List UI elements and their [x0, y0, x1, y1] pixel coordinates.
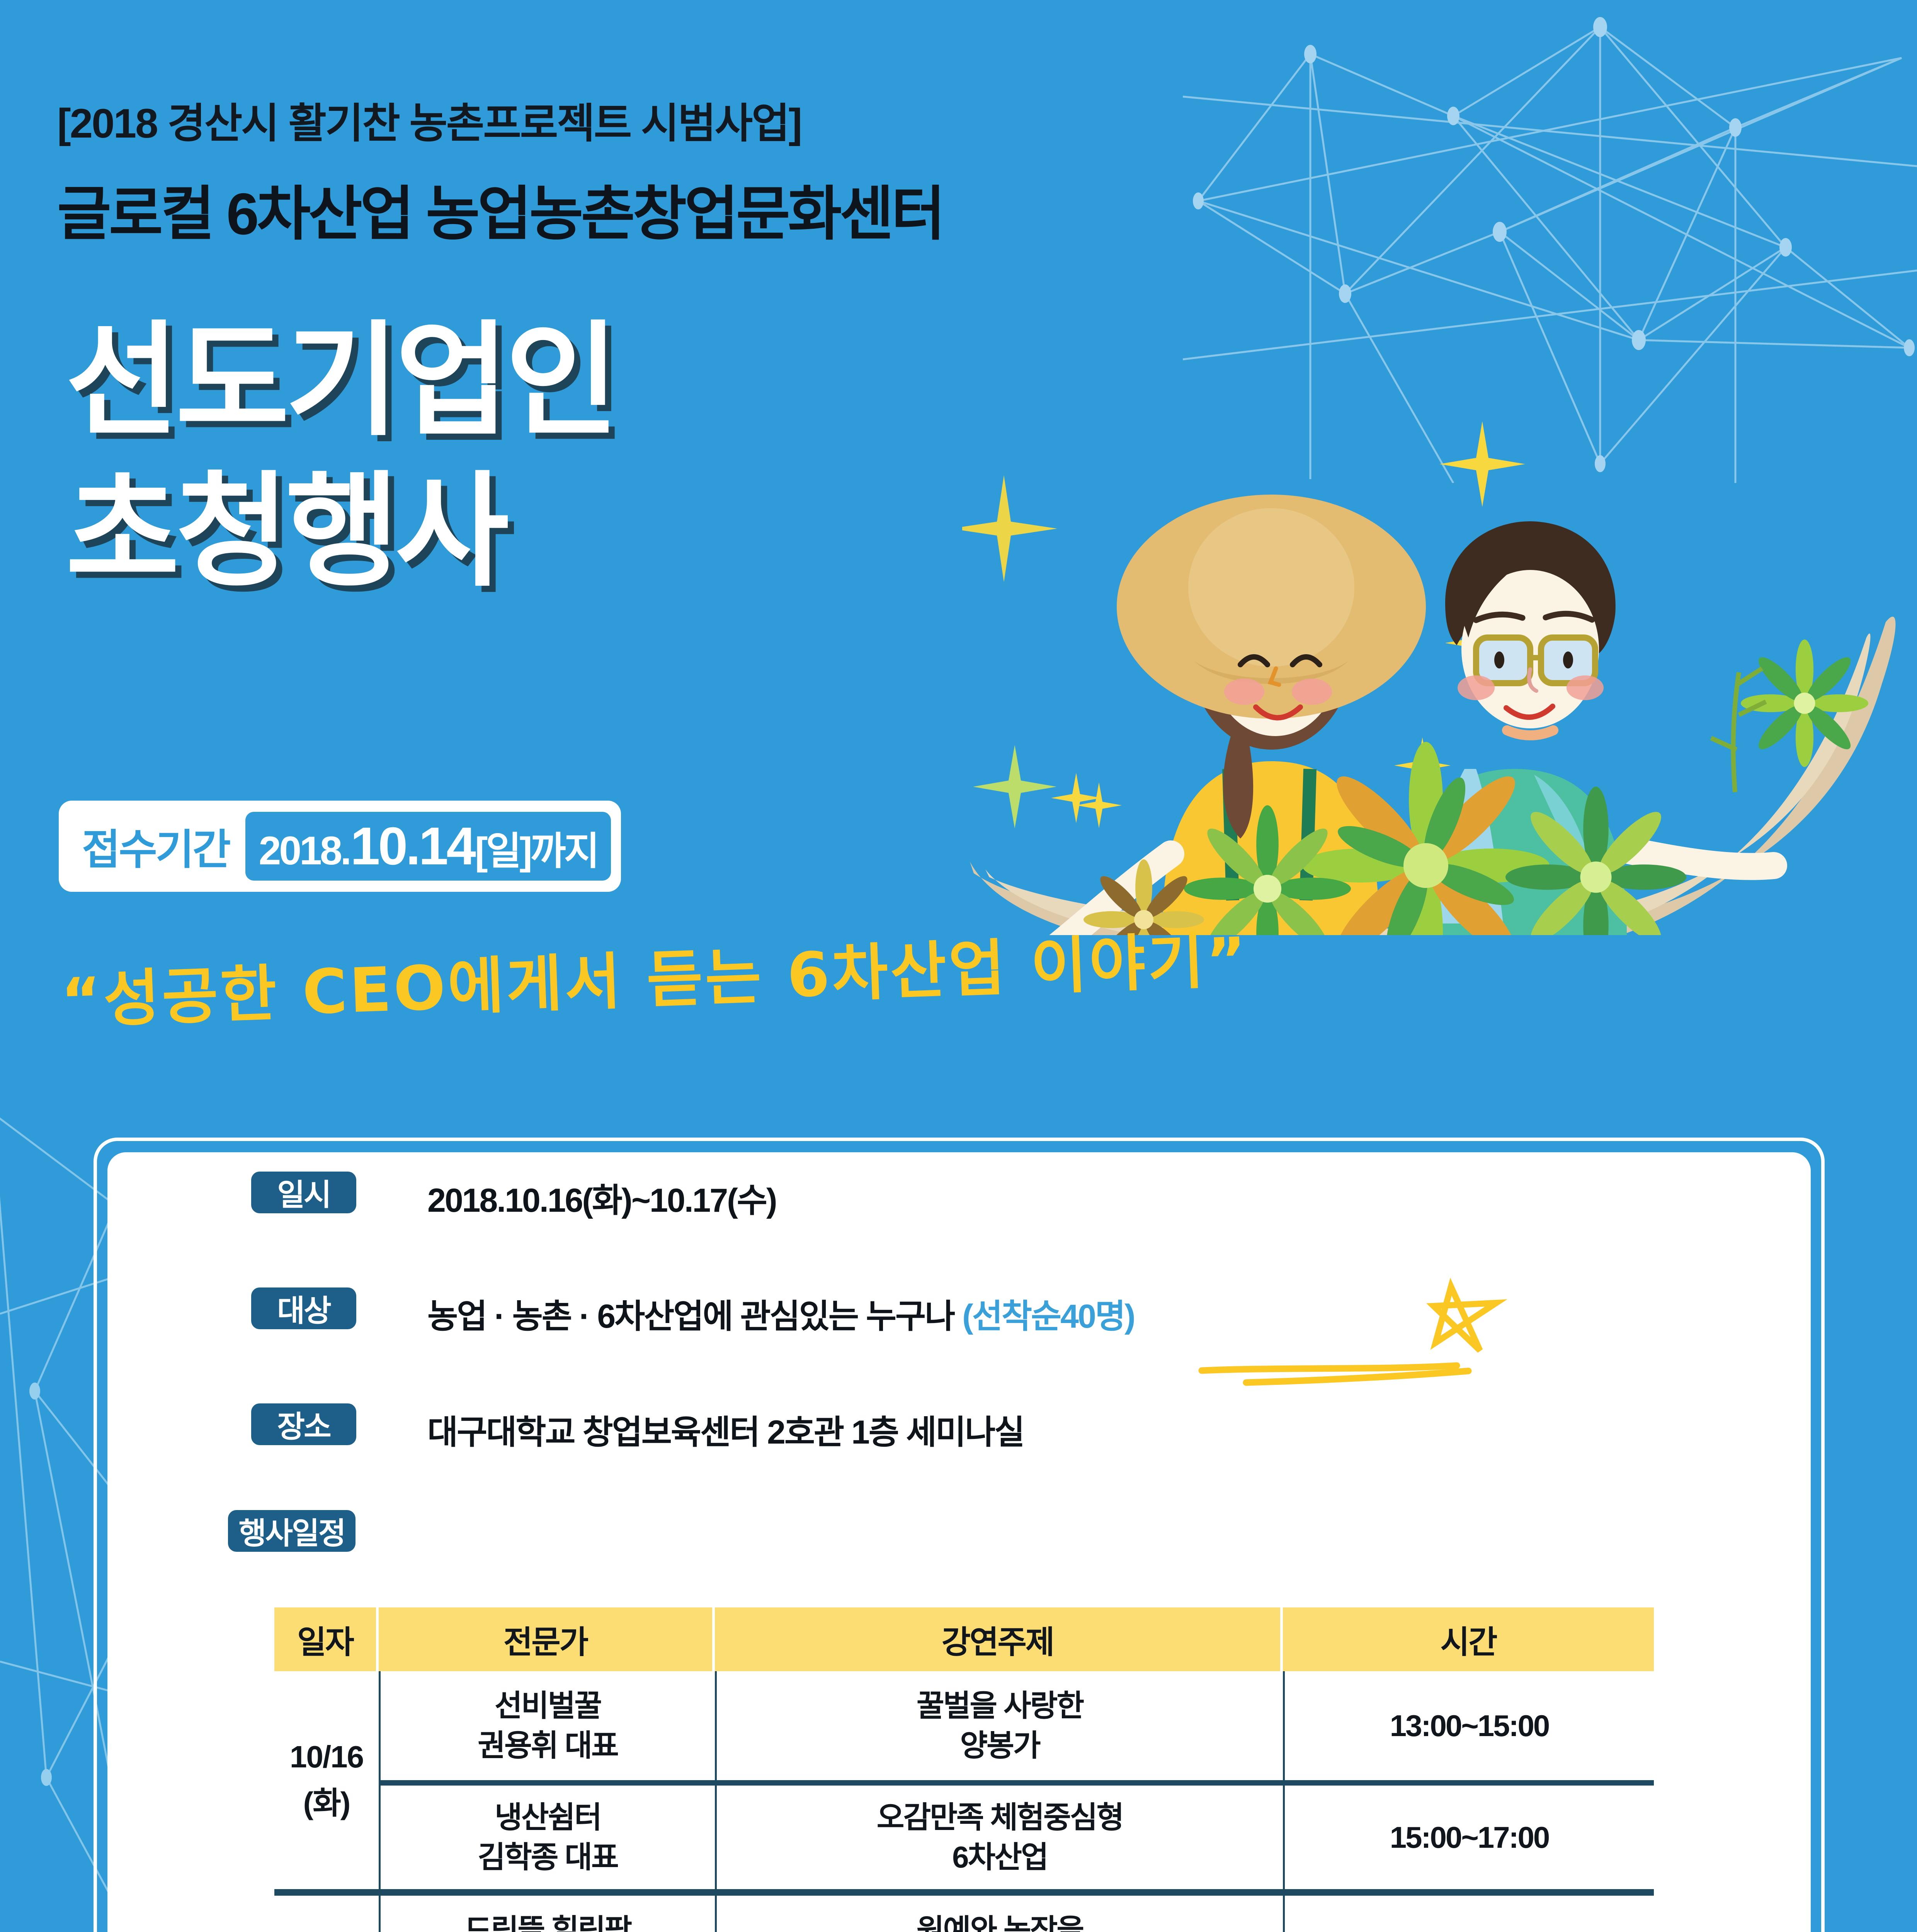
info-row-venue: 장소 대구대학교 창업보육센터 2호관 1층 세미나실: [251, 1403, 1024, 1453]
farmer-couple-illustration: [962, 421, 1909, 935]
table-body: 10/16 (화) 선비벌꿀 권용휘 대표 꿀벌을 사랑한 양봉가: [274, 1671, 1654, 1932]
expert-line2: 김학종 대표: [478, 1837, 617, 1877]
reception-period-value: 2018.10.14[일]까지: [259, 816, 597, 877]
info-row-audience: 대상 농업 · 농촌 · 6차산업에 관심있는 누구나 (선착순40명): [251, 1287, 1135, 1337]
table-row: 드림뜰 힐링팜 송미나 대표 원예와 농장을 활용한 치유농업 13:00~15…: [379, 1896, 1654, 1932]
value-venue: 대구대학교 창업보육센터 2호관 1층 세미나실: [427, 1405, 1024, 1453]
info-row-schedule: 행사일정: [228, 1510, 356, 1552]
info-row-datetime: 일시 2018.10.16(화)~10.17(수): [251, 1172, 776, 1221]
title-line-1: 선도기업인: [66, 305, 615, 456]
tagline-handwritten: “성공한 CEO에게서 듣는 6차산업 이야기”: [58, 939, 1372, 1063]
table-cell-topic: 꿀벌을 사랑한 양봉가: [715, 1671, 1283, 1780]
schedule-table: 일자 전문가 강연주제 시간 10/16 (화) 선비벌꿀 권용휘 대표: [274, 1607, 1654, 1932]
table-header-date: 일자: [274, 1607, 379, 1671]
expert-line1: 선비벌꿀: [495, 1686, 601, 1726]
table-day-group: 10/17 (수) 드림뜰 힐링팜 송미나 대표 원예와 농장을 활용한 치유농…: [274, 1889, 1654, 1932]
chip-audience: 대상: [251, 1287, 356, 1329]
subtitle-text: 글로컬 6차산업 농업농촌창업문화센터: [57, 166, 943, 251]
expert-line2: 권용휘 대표: [478, 1726, 617, 1765]
chip-datetime: 일시: [251, 1172, 356, 1213]
tagline-text: “성공한 CEO에게서 듣는 6차산업 이야기”: [60, 924, 1250, 1037]
time-value: 15:00~17:00: [1390, 1818, 1549, 1857]
reception-period-label: 접수기간: [82, 816, 229, 876]
table-cell-expert: 선비벌꿀 권용휘 대표: [379, 1671, 715, 1780]
reception-period-value-box: 2018.10.14[일]까지: [245, 812, 611, 881]
topic-line2: 6차산업: [952, 1837, 1048, 1877]
table-date-cell: 10/16 (화): [274, 1671, 379, 1889]
page-title: 선도기업인 초청행사: [66, 305, 615, 607]
value-datetime: 2018.10.16(화)~10.17(수): [427, 1173, 776, 1221]
table-cell-time: 13:00~15:00: [1283, 1671, 1654, 1780]
topic-line1: 꿀벌을 사랑한: [917, 1686, 1083, 1726]
expert-line1: 드림뜰 힐링팜: [464, 1910, 631, 1932]
time-value: 13:00~15:00: [1390, 1706, 1549, 1746]
poster-canvas: [2018 경산시 활기찬 농촌프로젝트 시범사업] 글로컬 6차산업 농업농촌…: [0, 0, 1917, 1932]
topic-line1: 오감만족 체험중심형: [877, 1798, 1123, 1837]
table-cell-time: 13:00~15:00: [1283, 1896, 1654, 1932]
table-cell-expert: 냉산쉼터 김학종 대표: [379, 1786, 715, 1889]
chip-venue: 장소: [251, 1403, 356, 1445]
value-audience: 농업 · 농촌 · 6차산업에 관심있는 누구나 (선착순40명): [427, 1289, 1135, 1337]
table-day-group: 10/16 (화) 선비벌꿀 권용휘 대표 꿀벌을 사랑한 양봉가: [274, 1671, 1654, 1889]
table-header-row: 일자 전문가 강연주제 시간: [274, 1607, 1654, 1671]
value-audience-main: 농업 · 농촌 · 6차산업에 관심있는 누구나: [427, 1298, 962, 1335]
table-date-line1: 10/16: [290, 1734, 363, 1780]
expert-line1: 냉산쉼터: [495, 1798, 601, 1837]
network-pattern-top-right-icon: [1183, 0, 1917, 483]
table-date-line2: (화): [303, 1780, 350, 1827]
table-header-topic: 강연주제: [715, 1607, 1283, 1671]
table-header-expert: 전문가: [379, 1607, 715, 1671]
table-row: 선비벌꿀 권용휘 대표 꿀벌을 사랑한 양봉가 13:00~15:00: [379, 1671, 1654, 1780]
topic-line1: 원예와 농장을: [917, 1910, 1083, 1932]
table-row: 냉산쉼터 김학종 대표 오감만족 체험중심형 6차산업 15:00~17:00: [379, 1780, 1654, 1889]
reception-period-badge: 접수기간 2018.10.14[일]까지: [59, 801, 621, 892]
title-line-2: 초청행사: [66, 456, 615, 607]
reception-period-date: 10.14: [350, 816, 474, 877]
table-header-time: 시간: [1283, 1607, 1654, 1671]
kicker-text: [2018 경산시 활기찬 농촌프로젝트 시범사업]: [57, 90, 801, 150]
time-value: 13:00~15:00: [1390, 1930, 1549, 1932]
topic-line2: 양봉가: [960, 1726, 1039, 1765]
table-date-cell: 10/17 (수): [274, 1896, 379, 1932]
reception-period-tail: [일]까지: [475, 820, 598, 876]
chip-schedule: 행사일정: [228, 1510, 356, 1552]
table-cell-topic: 원예와 농장을 활용한 치유농업: [715, 1896, 1283, 1932]
table-cell-time: 15:00~17:00: [1283, 1786, 1654, 1889]
table-cell-topic: 오감만족 체험중심형 6차산업: [715, 1786, 1283, 1889]
reception-period-year: 2018.: [259, 828, 349, 874]
value-audience-accent: (선착순40명): [962, 1298, 1134, 1335]
table-cell-expert: 드림뜰 힐링팜 송미나 대표: [379, 1896, 715, 1932]
